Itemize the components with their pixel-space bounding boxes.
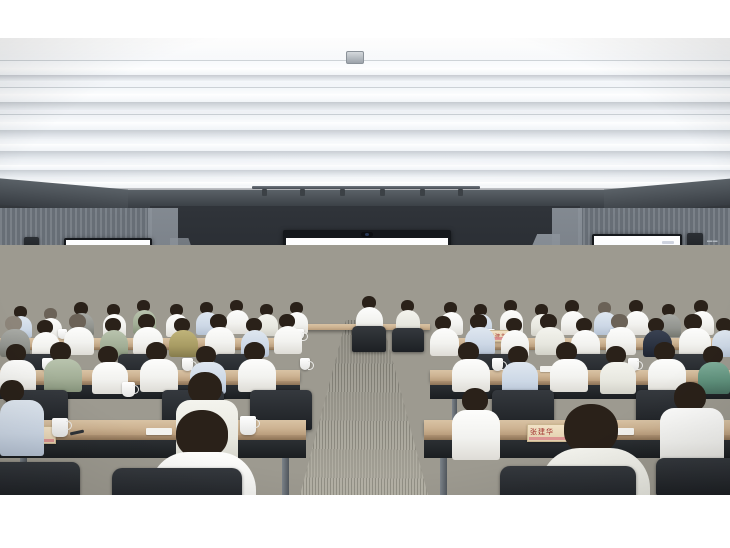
ceiling-seam-3 <box>0 114 730 115</box>
ceiling-cove-shadow-3 <box>0 130 730 139</box>
chair-nearest-right <box>500 466 636 495</box>
ceiling-cove-shadow-2 <box>0 102 730 110</box>
chair-nearest-far-left <box>0 462 80 495</box>
ceiling-light-strip-3 <box>0 122 730 130</box>
track-lamp-3 <box>340 189 345 196</box>
right-wall-label: ▬▬ <box>707 238 718 244</box>
ceiling-smoke-detector <box>346 51 364 64</box>
ceiling-cove-shadow-4 <box>0 151 730 159</box>
track-lamp-4 <box>380 189 385 196</box>
mug-a-1 <box>52 418 68 437</box>
track-lamp-6 <box>458 189 463 196</box>
paper-a-1 <box>146 428 172 435</box>
mug-a-2 <box>240 416 256 435</box>
ceiling-seam-1 <box>0 60 730 61</box>
ceiling-light-strip-1 <box>0 68 730 75</box>
name-placard-right: 张建华 <box>527 424 569 442</box>
table-leg-a-2 <box>282 458 289 495</box>
ceiling-cove-shadow-5 <box>0 170 730 177</box>
track-lamp-5 <box>420 189 425 196</box>
mug-b-3 <box>300 358 310 370</box>
mug-b-4 <box>492 358 503 371</box>
ceiling-light-strip-4 <box>0 144 730 151</box>
front-chair-1 <box>352 326 386 352</box>
lighting-track <box>252 186 480 189</box>
chair-nearest-far-right <box>656 458 730 495</box>
screen-camera-icon <box>361 232 373 237</box>
name-placard-right-text: 张建华 <box>530 427 566 437</box>
conference-room-photo: ▬▬ <box>0 38 730 495</box>
chair-nearest-left <box>112 468 242 495</box>
track-lamp-1 <box>262 189 267 196</box>
track-lamp-2 <box>300 189 305 196</box>
name-placard-right-stripe <box>529 437 567 440</box>
screenshot-page: ▬▬ <box>0 0 730 548</box>
right-screen-caption <box>662 241 674 244</box>
ceiling-light-strip-2 <box>0 94 730 102</box>
mug-a-3 <box>122 382 135 397</box>
front-chair-2 <box>392 328 424 352</box>
table-leg-a-3 <box>440 458 447 495</box>
ceiling-cove-shadow-1 <box>0 75 730 81</box>
ceiling-seam-2 <box>0 87 730 88</box>
